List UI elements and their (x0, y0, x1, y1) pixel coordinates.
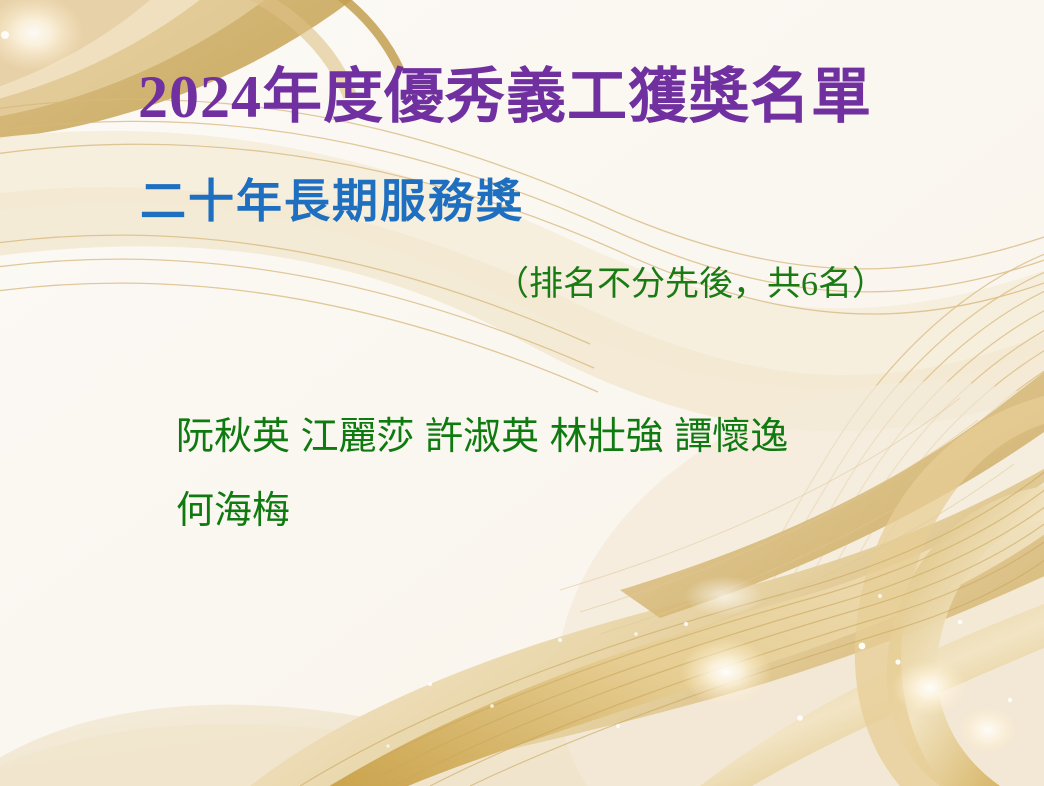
page-title: 2024年度優秀義工獲獎名單 (138, 66, 872, 129)
presentation-slide: 2024年度優秀義工獲獎名單 二十年長期服務獎 （排名不分先後，共6名） 阮秋英… (0, 0, 1044, 786)
slide-content: 2024年度優秀義工獲獎名單 二十年長期服務獎 （排名不分先後，共6名） 阮秋英… (0, 0, 1044, 786)
awardee-name-row: 阮秋英 江麗莎 許淑英 林壯強 譚懷逸 (176, 400, 936, 474)
award-category-subtitle: 二十年長期服務獎 (140, 178, 524, 226)
ordering-note: （排名不分先後，共6名） (495, 266, 886, 303)
awardee-name-row: 何海梅 (176, 474, 936, 548)
awardee-name-list: 阮秋英 江麗莎 許淑英 林壯強 譚懷逸 何海梅 (176, 400, 936, 548)
